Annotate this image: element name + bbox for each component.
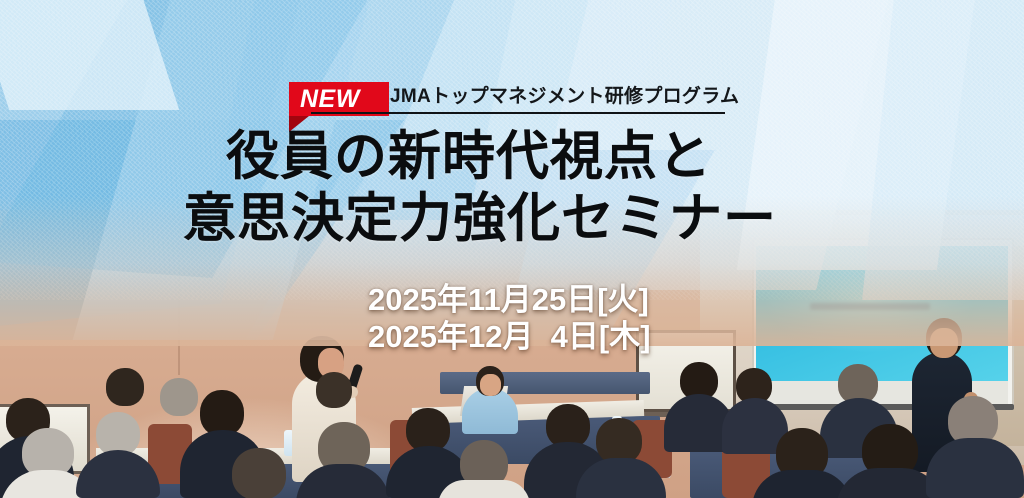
new-badge-body: NEW: [289, 82, 389, 116]
subtitle-underline: [311, 112, 725, 114]
seminar-date-2: 2025年12月 4日[木]: [368, 318, 651, 355]
seminar-title: 役員の新時代視点と 意思決定力強化セミナー: [0, 126, 1024, 250]
seminar-banner: NEW JMAトップマネジメント研修プログラム 役員の新時代視点と 意思決定力強…: [0, 0, 1024, 498]
headline-block: NEW JMAトップマネジメント研修プログラム 役員の新時代視点と 意思決定力強…: [0, 0, 1024, 498]
seminar-title-line-1: 役員の新時代視点と: [0, 126, 1024, 188]
new-badge-label: NEW: [289, 82, 360, 116]
seminar-title-line-2: 意思決定力強化セミナー: [0, 188, 1024, 250]
new-badge: NEW: [289, 82, 389, 116]
seminar-dates: 2025年11月25日[火] 2025年12月 4日[木]: [368, 281, 651, 355]
seminar-date-1: 2025年11月25日[火]: [368, 281, 651, 318]
program-subtitle: JMAトップマネジメント研修プログラム: [390, 82, 730, 112]
